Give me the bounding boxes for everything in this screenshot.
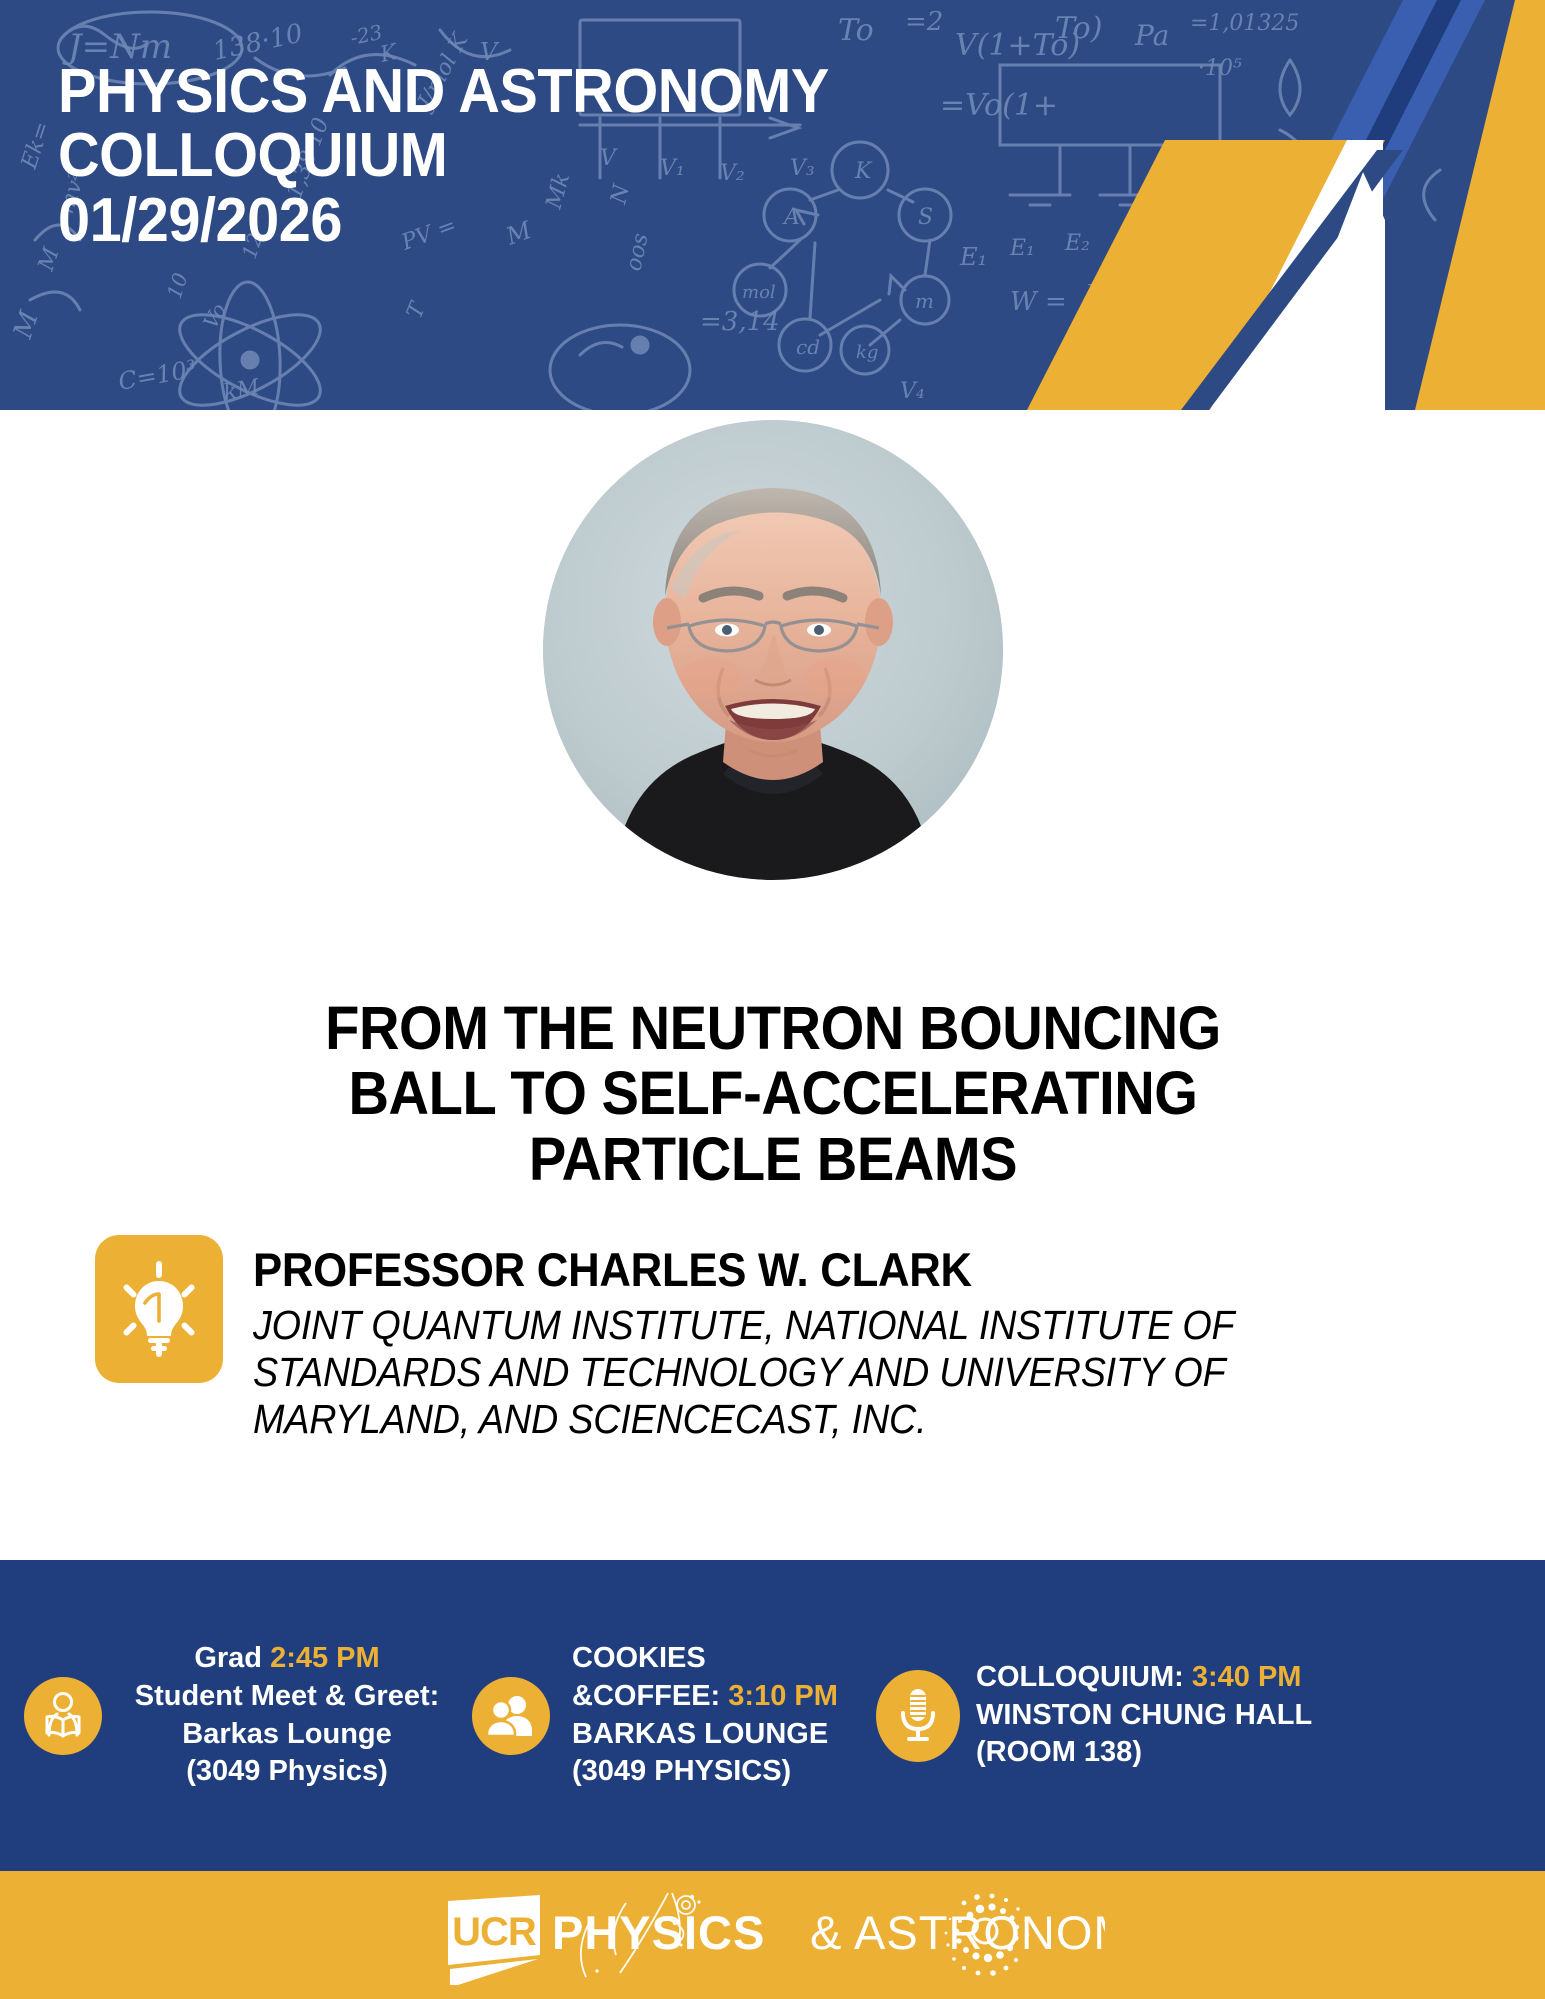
header-line-1: PHYSICS AND ASTRONOMY (58, 60, 951, 124)
event-line: &COFFEE: 3:10 PM (572, 1678, 852, 1716)
header-decorative-shapes-icon (985, 0, 1545, 410)
svg-text:ASTRONOMY: ASTRONOMY (854, 1906, 1105, 1959)
avatar (543, 420, 1003, 880)
group-people-icon (472, 1677, 550, 1755)
event-line: Student Meet & Greet: (120, 1678, 454, 1716)
header-line-2: COLLOQUIUM (58, 124, 951, 188)
talk-title: FROM THE NEUTRON BOUNCING BALL TO SELF-A… (165, 996, 1379, 1192)
svg-text:kg: kg (856, 342, 878, 363)
event-text-meet-and-greet: Grad 2:45 PM Student Meet & Greet: Barka… (102, 1640, 454, 1791)
event-line: Barkas Lounge (120, 1716, 454, 1754)
grad-label: Grad (194, 1642, 270, 1674)
svg-text:UCR: UCR (452, 1910, 537, 1954)
speaker-name: PROFESSOR CHARLES W. CLARK (253, 1245, 1389, 1294)
event-item-cookies-coffee: COOKIES &COFFEE: 3:10 PM BARKAS LOUNGE (… (454, 1640, 852, 1791)
cookies-label: &COFFEE: (572, 1680, 728, 1712)
speaker-portrait-container (0, 420, 1545, 820)
event-line: (3049 Physics) (120, 1753, 454, 1791)
header-line-3: 01/29/2026 (58, 189, 951, 253)
event-text-cookies-coffee: COOKIES &COFFEE: 3:10 PM BARKAS LOUNGE (… (550, 1640, 852, 1791)
speaker-affiliation-line-1: JOINT QUANTUM INSTITUTE, NATIONAL INSTIT… (253, 1302, 1467, 1349)
svg-text:m: m (915, 289, 934, 313)
svg-text:E₁: E₁ (959, 243, 987, 271)
page-title: PHYSICS AND ASTRONOMY COLLOQUIUM 01/29/2… (58, 60, 951, 253)
grad-time: 2:45 PM (270, 1642, 380, 1674)
event-item-meet-and-greet: Grad 2:45 PM Student Meet & Greet: Barka… (0, 1640, 454, 1791)
microphone-icon (876, 1670, 960, 1762)
talk-title-line-1: FROM THE NEUTRON BOUNCING (165, 996, 1379, 1061)
event-line: Grad 2:45 PM (120, 1640, 454, 1678)
speaker-section: PROFESSOR CHARLES W. CLARK JOINT QUANTUM… (95, 1235, 1475, 1443)
svg-text:kM: kM (222, 375, 262, 406)
speaker-affiliation: JOINT QUANTUM INSTITUTE, NATIONAL INSTIT… (253, 1302, 1467, 1442)
svg-text:10: 10 (162, 270, 193, 302)
event-item-colloquium: COLLOQUIUM: 3:40 PM WINSTON CHUNG HALL (… (852, 1659, 1516, 1772)
person-reading-icon (24, 1677, 102, 1755)
talk-title-line-2: BALL TO SELF-ACCELERATING (165, 1061, 1379, 1126)
event-info-bar: Grad 2:45 PM Student Meet & Greet: Barka… (0, 1560, 1545, 1871)
svg-text:T: T (402, 297, 432, 322)
svg-text:Ek=: Ek= (17, 119, 56, 173)
cookies-time: 3:10 PM (728, 1680, 838, 1712)
event-line: WINSTON CHUNG HALL (976, 1697, 1516, 1735)
svg-text:mol: mol (742, 282, 776, 303)
poster-header: J=Nm 138·10 -23 K J/mol K 1,38·10 V V V₁… (0, 0, 1545, 410)
svg-text:cd: cd (796, 335, 820, 359)
svg-text:C=10³: C=10³ (116, 355, 198, 396)
event-line: (3049 PHYSICS) (572, 1753, 852, 1791)
colloquium-label: COLLOQUIUM: (976, 1661, 1192, 1693)
speaker-affiliation-line-2: STANDARDS AND TECHNOLOGY AND UNIVERSITY … (253, 1349, 1467, 1396)
lightbulb-badge (95, 1235, 223, 1383)
svg-text:=2: =2 (905, 7, 943, 37)
speaker-affiliation-line-3: MARYLAND, AND SCIENCECAST, INC. (253, 1396, 1467, 1443)
speaker-details: PROFESSOR CHARLES W. CLARK JOINT QUANTUM… (253, 1235, 1475, 1443)
svg-text:M: M (8, 306, 45, 343)
event-line: (ROOM 138) (976, 1734, 1516, 1772)
event-line: COOKIES (572, 1640, 852, 1678)
event-line: BARKAS LOUNGE (572, 1716, 852, 1754)
svg-text:V₄: V₄ (900, 379, 925, 404)
event-line: COLLOQUIUM: 3:40 PM (976, 1659, 1516, 1697)
svg-text:=3,14: =3,14 (700, 307, 780, 337)
svg-text:&: & (810, 1906, 842, 1959)
footer-logo-bar: UCR PHYSICS & ASTRONOMY (0, 1871, 1545, 1999)
talk-title-line-3: PARTICLE BEAMS (165, 1127, 1379, 1192)
lightbulb-icon (117, 1259, 201, 1359)
svg-text:To: To (838, 13, 874, 48)
event-text-colloquium: COLLOQUIUM: 3:40 PM WINSTON CHUNG HALL (… (960, 1659, 1516, 1772)
ucr-physics-astronomy-logo-icon: UCR PHYSICS & ASTRONOMY (440, 1885, 1105, 1985)
colloquium-time: 3:40 PM (1192, 1661, 1302, 1693)
